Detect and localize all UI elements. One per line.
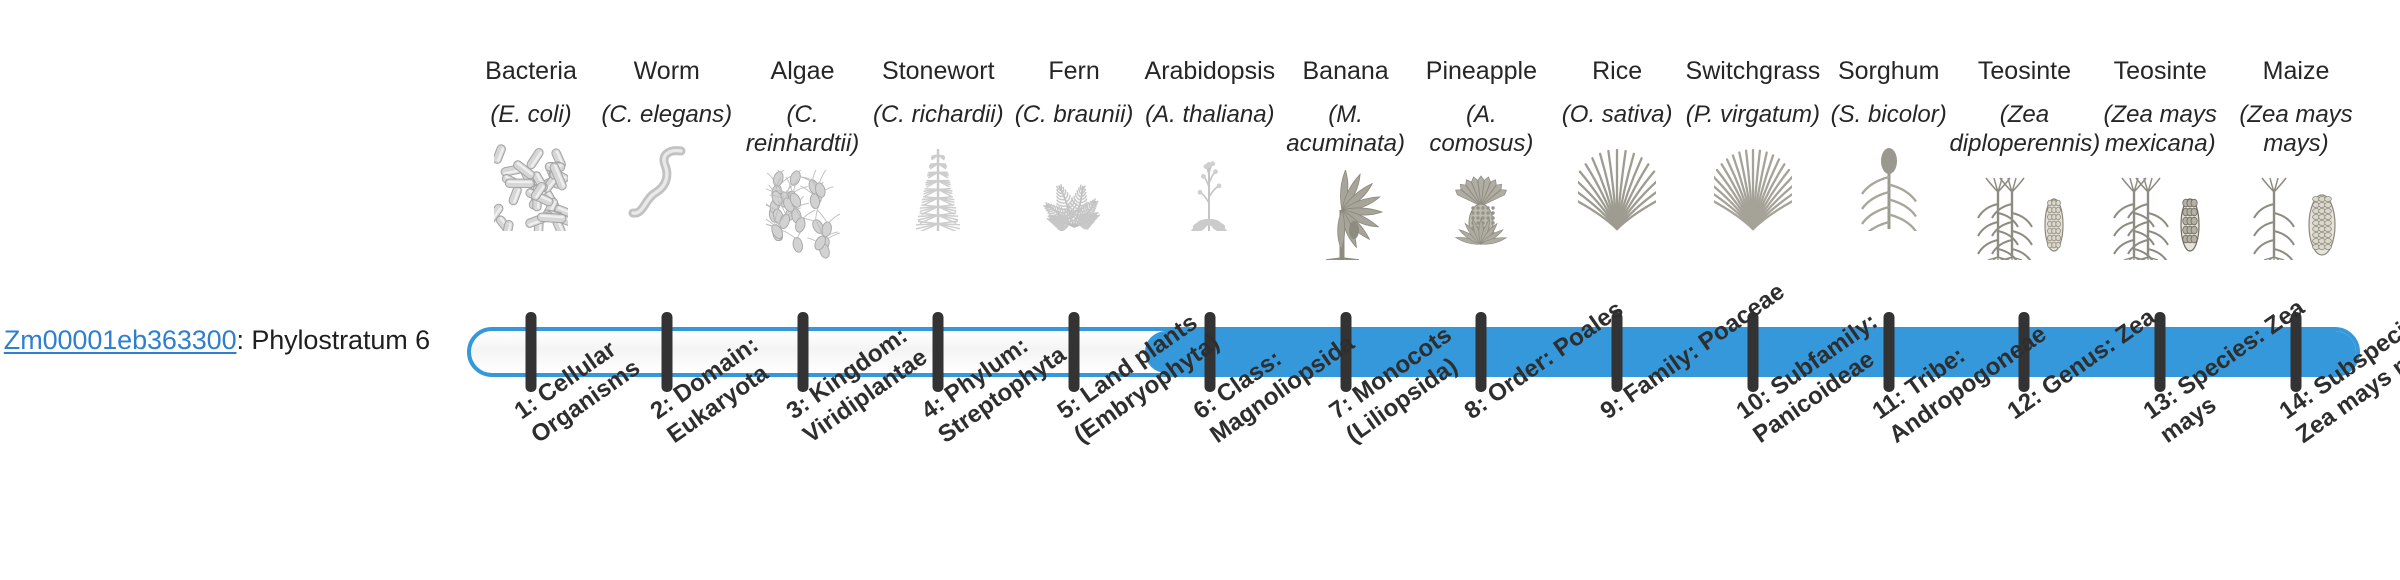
species-column-arabidopsis-6: Arabidopsis(A. thaliana) (1140, 56, 1280, 231)
sorghum-icon (1819, 135, 1959, 231)
species-column-rice-9: Rice(O. sativa) (1547, 56, 1687, 231)
pineapple-icon (1411, 164, 1551, 260)
teosinte-mexicana-icon (2085, 164, 2235, 260)
species-column-teosinte-13: Teosinte(Zea mays mexicana) (2085, 56, 2235, 260)
species-common-name: Pineapple (1411, 56, 1551, 86)
species-common-name: Sorghum (1819, 56, 1959, 86)
species-column-algae-3: Algae(C. reinhardtii) (733, 56, 873, 260)
species-column-banana-7: Banana(M. acuminata) (1276, 56, 1416, 260)
species-latin-name: (C. reinhardtii) (733, 100, 873, 158)
species-latin-name: (M. acuminata) (1276, 100, 1416, 158)
species-common-name: Worm (597, 56, 737, 86)
species-column-stonewort-4: Stonewort(C. richardii) (868, 56, 1008, 231)
species-latin-name: (Zea mays mexicana) (2085, 100, 2235, 158)
species-column-switchgrass-10: Switchgrass(P. virgatum) (1683, 56, 1823, 231)
species-common-name: Stonewort (868, 56, 1008, 86)
maize-icon (2226, 164, 2366, 260)
rice-icon (1547, 135, 1687, 231)
species-latin-name: (P. virgatum) (1683, 100, 1823, 129)
species-latin-name: (A. thaliana) (1140, 100, 1280, 129)
species-column-maize-14: Maize(Zea mays mays) (2226, 56, 2366, 260)
species-latin-name: (S. bicolor) (1819, 100, 1959, 129)
species-common-name: Teosinte (1949, 56, 2099, 86)
species-common-name: Rice (1547, 56, 1687, 86)
species-common-name: Algae (733, 56, 873, 86)
species-common-name: Banana (1276, 56, 1416, 86)
gene-phylostratum-label: Zm00001eb363300: Phylostratum 6 (0, 325, 430, 356)
algae-icon (733, 164, 873, 260)
gene-label-separator: : (237, 325, 252, 355)
species-latin-name: (Zea mays mays) (2226, 100, 2366, 158)
fern-icon (1004, 135, 1144, 231)
gene-phylostratum-value: Phylostratum 6 (251, 325, 430, 355)
species-column-fern-5: Fern(C. braunii) (1004, 56, 1144, 231)
species-column-bacteria-1: Bacteria(E. coli) (461, 56, 601, 231)
species-common-name: Bacteria (461, 56, 601, 86)
worm-icon (597, 135, 737, 231)
species-latin-name: (C. braunii) (1004, 100, 1144, 129)
switchgrass-icon (1683, 135, 1823, 231)
species-column-teosinte-12: Teosinte(Zea diploperennis) (1949, 56, 2099, 260)
gene-id-link[interactable]: Zm00001eb363300 (4, 325, 237, 355)
arabidopsis-icon (1140, 135, 1280, 231)
banana-icon (1276, 164, 1416, 260)
bacteria-icon (461, 135, 601, 231)
phylostratum-timeline: Zm00001eb363300: Phylostratum 6 Bacteria… (0, 0, 2400, 580)
species-latin-name: (E. coli) (461, 100, 601, 129)
species-column-pineapple-8: Pineapple(A. comosus) (1411, 56, 1551, 260)
species-common-name: Fern (1004, 56, 1144, 86)
species-common-name: Arabidopsis (1140, 56, 1280, 86)
species-latin-name: (O. sativa) (1547, 100, 1687, 129)
species-latin-name: (C. richardii) (868, 100, 1008, 129)
species-latin-name: (C. elegans) (597, 100, 737, 129)
species-column-worm-2: Worm(C. elegans) (597, 56, 737, 231)
species-latin-name: (A. comosus) (1411, 100, 1551, 158)
species-common-name: Maize (2226, 56, 2366, 86)
stonewort-icon (868, 135, 1008, 231)
species-latin-name: (Zea diploperennis) (1949, 100, 2099, 158)
species-common-name: Switchgrass (1683, 56, 1823, 86)
species-column-sorghum-11: Sorghum(S. bicolor) (1819, 56, 1959, 231)
teosinte-diploperennis-icon (1949, 164, 2099, 260)
species-common-name: Teosinte (2085, 56, 2235, 86)
tick-mark-1 (526, 312, 537, 392)
